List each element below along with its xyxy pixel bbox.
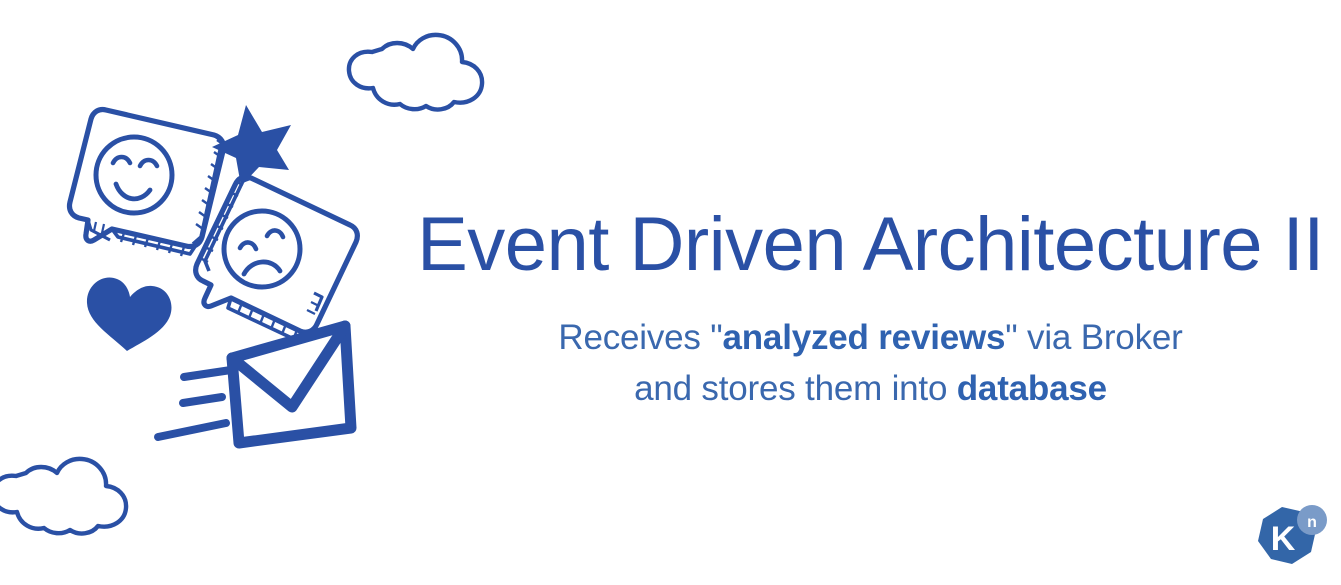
logo-badge-letter: n: [1307, 514, 1317, 531]
cloud-bottom-icon: [0, 432, 134, 544]
envelope-icon: [232, 326, 351, 443]
page-title: Event Driven Architecture II: [400, 205, 1341, 286]
subtitle-line-1: Receives "analyzed reviews" via Broker: [400, 312, 1341, 363]
subtitle-line-1-suffix: " via Broker: [1005, 318, 1182, 357]
logo-mark-letter: K: [1271, 520, 1296, 558]
speech-bubble-happy-icon: [69, 109, 224, 256]
subtitle-line-1-prefix: Receives ": [558, 318, 722, 357]
speech-bubble-sad-icon: [196, 177, 358, 340]
cloud-top-icon: [340, 14, 500, 114]
subtitle-line-1-emphasis: analyzed reviews: [722, 318, 1005, 357]
subtitle-line-2-prefix: and stores them into: [634, 369, 957, 408]
slide-canvas: Event Driven Architecture II Receives "a…: [0, 0, 1341, 585]
text-block: Event Driven Architecture II Receives "a…: [400, 205, 1341, 414]
subtitle-line-2: and stores them into database: [400, 363, 1341, 414]
illustration-group: [0, 0, 400, 585]
motion-lines-icon: [158, 370, 231, 437]
brand-logo: K n: [1252, 503, 1330, 575]
page-subtitle: Receives "analyzed reviews" via Broker a…: [400, 312, 1341, 414]
star-icon: [212, 105, 291, 186]
subtitle-line-2-emphasis: database: [957, 369, 1107, 408]
heart-icon: [87, 277, 172, 351]
